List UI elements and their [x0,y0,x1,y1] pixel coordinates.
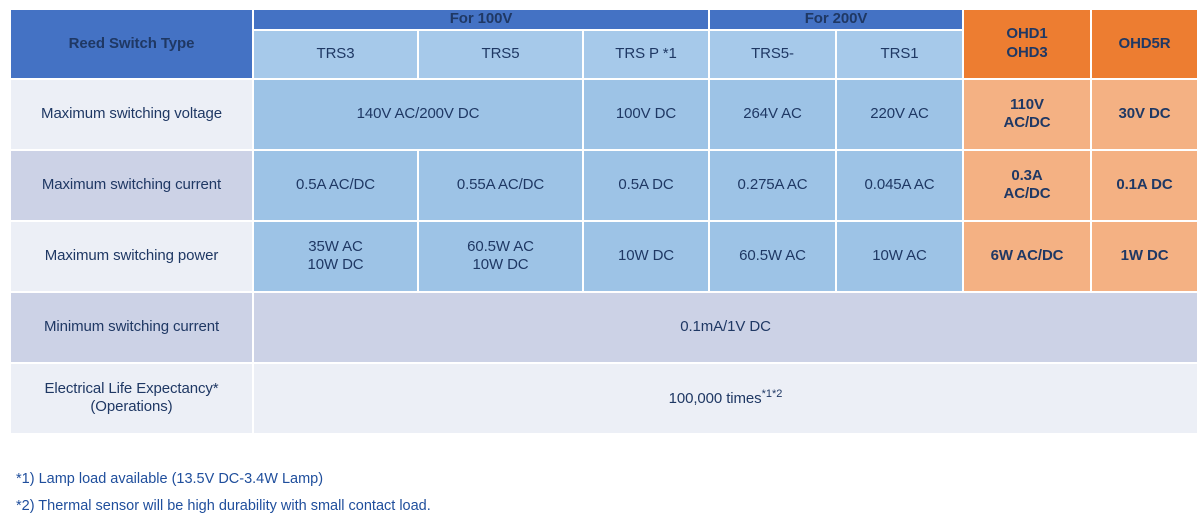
side-header-ohd5r: OHD5R [1092,10,1197,78]
cell-current-trs1: 0.045A AC [837,151,962,220]
cell-voltage-trs3-trs5: 140V AC/200V DC [254,80,582,149]
cell-current-ohd5r: 0.1A DC [1092,151,1197,220]
cell-voltage-ohd5r: 30V DC [1092,80,1197,149]
cell-voltage-trs-p: 100V DC [584,80,708,149]
cell-current-trs-p: 0.5A DC [584,151,708,220]
cell-line-1: 110V [964,96,1090,115]
side-header-line-ohd5r: OHD5R [1092,35,1197,54]
cell-line-1: 35W AC [254,238,417,257]
subheader-trs3: TRS3 [254,31,417,78]
table-row: Maximum switching current 0.5A AC/DC 0.5… [11,151,1197,220]
row-label-electrical-life-expectancy: Electrical Life Expectancy* (Operations) [11,364,252,433]
cell-voltage-ohd1-ohd3: 110V AC/DC [964,80,1090,149]
cell-line-1: 0.3A [964,167,1090,186]
row-label-line-2: (Operations) [11,398,252,417]
cell-current-trs3: 0.5A AC/DC [254,151,417,220]
group-header-for-200v: For 200V [710,10,962,29]
row-label-minimum-switching-current: Minimum switching current [11,293,252,362]
row-label-maximum-switching-power: Maximum switching power [11,222,252,291]
cell-power-trs5-dash: 60.5W AC [710,222,835,291]
cell-power-trs1: 10W AC [837,222,962,291]
subheader-trs5-dash: TRS5- [710,31,835,78]
cell-power-ohd5r: 1W DC [1092,222,1197,291]
reed-switch-spec-table: Reed Switch Type For 100V For 200V OHD1 … [9,8,1199,435]
cell-minimum-switching-current-value: 0.1mA/1V DC [254,293,1197,362]
value-text: 100,000 times [669,390,762,407]
side-header-ohd1-ohd3: OHD1 OHD3 [964,10,1090,78]
value-footnote-marker: *1*2 [762,388,783,400]
row-label-maximum-switching-current: Maximum switching current [11,151,252,220]
cell-electrical-life-expectancy-value: 100,000 times*1*2 [254,364,1197,433]
cell-line-2: 10W DC [254,256,417,275]
cell-power-ohd1-ohd3: 6W AC/DC [964,222,1090,291]
cell-power-trs5: 60.5W AC 10W DC [419,222,582,291]
table-row: Maximum switching voltage 140V AC/200V D… [11,80,1197,149]
cell-current-ohd1-ohd3: 0.3A AC/DC [964,151,1090,220]
cell-line-2: AC/DC [964,114,1090,133]
cell-line-2: 10W DC [419,256,582,275]
footnotes: *1) Lamp load available (13.5V DC-3.4W L… [16,472,1016,525]
cell-power-trs3: 35W AC 10W DC [254,222,417,291]
side-header-line-ohd3: OHD3 [964,44,1090,63]
footnote-1: *1) Lamp load available (13.5V DC-3.4W L… [16,472,1016,487]
cell-current-trs5-dash: 0.275A AC [710,151,835,220]
table-row: Minimum switching current 0.1mA/1V DC [11,293,1197,362]
table-header-row-groups: Reed Switch Type For 100V For 200V OHD1 … [11,10,1197,29]
subheader-trs1: TRS1 [837,31,962,78]
group-header-for-100v: For 100V [254,10,708,29]
row-label-maximum-switching-voltage: Maximum switching voltage [11,80,252,149]
subheader-trs5: TRS5 [419,31,582,78]
table-row: Maximum switching power 35W AC 10W DC 60… [11,222,1197,291]
side-header-line-ohd1: OHD1 [964,25,1090,44]
cell-current-trs5: 0.55A AC/DC [419,151,582,220]
footnote-2: *2) Thermal sensor will be high durabili… [16,499,1016,514]
corner-header-reed-switch-type: Reed Switch Type [11,10,252,78]
table-row: Electrical Life Expectancy* (Operations)… [11,364,1197,433]
cell-power-trs-p: 10W DC [584,222,708,291]
subheader-trs-p: TRS P *1 [584,31,708,78]
cell-voltage-trs5-dash: 264V AC [710,80,835,149]
row-label-line-1: Electrical Life Expectancy* [11,380,252,399]
cell-line-2: AC/DC [964,185,1090,204]
spec-table-sheet: Reed Switch Type For 100V For 200V OHD1 … [0,0,1200,527]
cell-voltage-trs1: 220V AC [837,80,962,149]
cell-line-1: 60.5W AC [419,238,582,257]
